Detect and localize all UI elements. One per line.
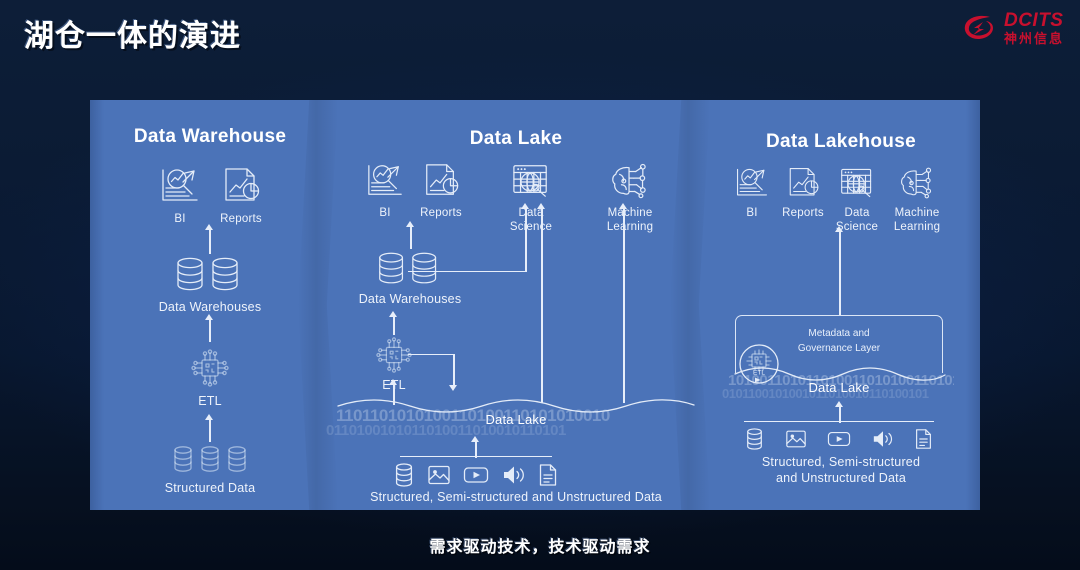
report-document-chart-icon (421, 162, 461, 200)
video-icon (463, 463, 489, 487)
node-structured-data: Structured Data (122, 445, 298, 497)
flow-line-lake-to-data-science (541, 208, 543, 403)
brand-logo: DCITS 神州信息 (959, 8, 1064, 48)
flow-arrow-warehouses-to-bi (205, 224, 213, 230)
source-icon-row (394, 463, 558, 487)
node-data-warehouses: Data Warehouses (335, 250, 485, 308)
data-science-globe-icon (509, 162, 553, 200)
label-bi: BI (379, 206, 390, 220)
column-data-warehouse: Data Warehouse BI (90, 100, 330, 510)
sources-bus-line (744, 421, 934, 422)
flow-arrow-warehouses-to-bi (406, 221, 414, 227)
label-reports: Reports (220, 212, 262, 226)
flow-line-etl-elbow-v (453, 354, 455, 386)
label-reports: Reports (420, 206, 462, 220)
sources-bus-line (400, 456, 552, 457)
flow-arrow-lakehouse-to-consumers (835, 226, 843, 232)
label-etl: ETL (198, 394, 222, 410)
flow-line-warehouses-to-bi (410, 225, 412, 249)
flow-arrow-sources-to-etl (205, 414, 213, 420)
label-sources: Structured, Semi-structured and Unstruct… (330, 490, 702, 506)
column-title-data-lake: Data Lake (330, 128, 702, 150)
node-bi: BI (728, 166, 776, 220)
database-icon (394, 463, 414, 487)
node-bi: BI (357, 162, 413, 220)
report-document-chart-icon (785, 166, 821, 200)
flow-line-warehouses-elbow-v (525, 208, 527, 272)
label-machine-learning-line2: Learning (894, 220, 940, 234)
column-title-data-warehouse: Data Warehouse (90, 126, 330, 148)
label-machine-learning-line1: Machine (608, 206, 653, 220)
flow-line-lake-to-machine-learning (623, 208, 625, 403)
column-data-lake: Data Lake BI (330, 100, 702, 510)
flow-arrow-lake-to-machine-learning (619, 203, 627, 209)
column-data-lakehouse: Data Lakehouse BI (702, 100, 980, 510)
data-science-globe-icon (838, 166, 876, 200)
label-data-science-line1: Data (844, 206, 869, 220)
document-icon (914, 428, 933, 450)
database-stack-icon (172, 445, 248, 475)
logo-text-en: DCITS (1004, 11, 1064, 30)
label-reports: Reports (782, 206, 824, 220)
node-reports: Reports (775, 166, 831, 220)
bi-chart-magnifier-icon (734, 166, 770, 200)
flow-line-warehouses-to-bi (209, 228, 211, 254)
label-data-science-line2: Science (510, 220, 552, 234)
flow-arrow-sources-to-lake (471, 436, 479, 442)
label-bi: BI (174, 212, 185, 226)
node-reports: Reports (210, 166, 272, 226)
video-icon (827, 428, 851, 450)
node-machine-learning: Machine Learning (590, 162, 670, 235)
audio-icon (872, 428, 894, 450)
flow-line-warehouses-elbow-h (408, 271, 526, 272)
label-machine-learning-line1: Machine (895, 206, 940, 220)
document-icon (538, 463, 558, 487)
database-stack-icon (173, 255, 247, 295)
node-bi: BI (152, 166, 208, 226)
flow-arrow-sources-to-lakehouse (835, 401, 843, 407)
flow-arrow-into-lake (389, 379, 397, 385)
dcits-swoosh-icon (959, 8, 999, 48)
node-data-warehouses: Data Warehouses (114, 255, 306, 316)
node-data-science: Data Science (500, 162, 562, 235)
node-machine-learning: Machine Learning (882, 166, 952, 235)
slide-footer-caption: 需求驱动技术，技术驱动需求 (0, 533, 1080, 557)
flow-arrow-lake-to-data-science (537, 203, 545, 209)
bi-chart-magnifier-icon (365, 162, 405, 200)
flow-line-etl-to-warehouses (393, 315, 395, 335)
label-sources-line1: Structured, Semi-structured (712, 455, 970, 471)
label-sources-line2: and Unstructured Data (712, 471, 970, 487)
node-data-science: Data Science (829, 166, 885, 235)
page-title: 湖仓一体的演进 (24, 11, 241, 55)
database-icon (745, 428, 764, 450)
flow-arrow-etl-to-warehouses (205, 314, 213, 320)
machine-learning-brain-icon (898, 166, 936, 200)
slide-canvas: 湖仓一体的演进 DCITS 神州信息 Data Warehouse (0, 0, 1080, 570)
lakehouse-evolution-diagram: Data Warehouse BI (90, 100, 980, 510)
flow-arrow-etl-to-lake (449, 385, 457, 391)
database-stack-icon (375, 250, 445, 288)
column-title-data-lakehouse: Data Lakehouse (702, 131, 980, 153)
flow-arrow-warehouses-to-data-science (521, 203, 529, 209)
image-icon (427, 463, 451, 487)
node-etl: ETL (182, 348, 238, 410)
node-reports: Reports (410, 162, 472, 220)
bi-chart-magnifier-icon (159, 166, 201, 206)
label-data-lake: Data Lake (735, 380, 943, 395)
etl-chip-icon (190, 348, 230, 388)
source-icon-row (745, 428, 933, 450)
label-data-lake: Data Lake (330, 412, 702, 427)
report-document-chart-icon (220, 166, 262, 206)
flow-line-sources-to-etl (209, 418, 211, 442)
flow-line-etl-to-warehouses (209, 318, 211, 342)
flow-line-lakehouse-to-consumers (839, 230, 841, 315)
audio-icon (502, 463, 526, 487)
flow-line-etl-elbow-h (408, 354, 454, 355)
label-data-warehouses: Data Warehouses (359, 292, 462, 308)
label-machine-learning-line2: Learning (607, 220, 653, 234)
label-bi: BI (746, 206, 757, 220)
machine-learning-brain-icon (609, 162, 651, 200)
image-icon (785, 428, 807, 450)
label-structured-data: Structured Data (165, 481, 256, 497)
logo-text-cn: 神州信息 (1004, 32, 1064, 45)
flow-arrow-etl-to-warehouses (389, 311, 397, 317)
